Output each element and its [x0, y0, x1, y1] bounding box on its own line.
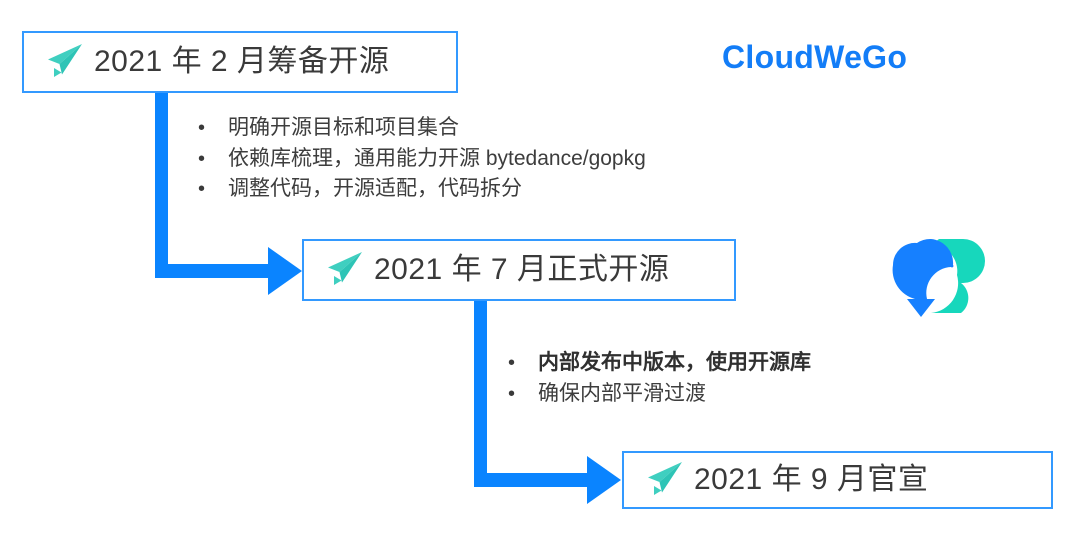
cloudwego-logo-icon	[881, 233, 997, 319]
bullet-dot-icon: •	[508, 384, 538, 404]
list-item-text: 依赖库梳理，通用能力开源 bytedance/gopkg	[228, 145, 646, 173]
list-item-text: 内部发布中版本，使用开源库	[538, 349, 811, 377]
milestone-label: 2021 年 9 月官宣	[694, 465, 944, 495]
connector-horizontal-segment	[155, 264, 279, 278]
arrowhead-right-icon	[587, 456, 621, 504]
list-item-text: 确保内部平滑过渡	[538, 380, 706, 408]
paper-plane-icon	[42, 41, 84, 84]
bullet-dot-icon: •	[198, 149, 228, 169]
list-item-text: 调整代码，开源适配，代码拆分	[228, 175, 522, 203]
details-2021-02: • 明确开源目标和项目集合 • 依赖库梳理，通用能力开源 bytedance/g…	[198, 114, 646, 206]
bullet-dot-icon: •	[198, 179, 228, 199]
paper-plane-icon	[322, 249, 364, 292]
bullet-dot-icon: •	[198, 118, 228, 138]
connector-horizontal-segment	[474, 473, 598, 487]
list-item: • 调整代码，开源适配，代码拆分	[198, 175, 646, 203]
connector-vertical-segment	[474, 299, 487, 487]
bullet-dot-icon: •	[508, 353, 538, 373]
list-item: • 明确开源目标和项目集合	[198, 114, 646, 142]
details-2021-07: • 内部发布中版本，使用开源库 • 确保内部平滑过渡	[508, 349, 811, 410]
paper-plane-icon	[642, 459, 684, 502]
milestone-label: 2021 年 7 月正式开源	[374, 255, 685, 285]
milestone-box-2021-02[interactable]: 2021 年 2 月筹备开源	[22, 31, 458, 93]
milestone-box-2021-09[interactable]: 2021 年 9 月官宣	[622, 451, 1053, 509]
connector-vertical-segment	[155, 91, 168, 278]
list-item-text: 明确开源目标和项目集合	[228, 114, 459, 142]
list-item: • 确保内部平滑过渡	[508, 380, 811, 408]
timeline-diagram: 2021 年 2 月筹备开源 • 明确开源目标和项目集合 • 依赖库梳理，通用能…	[0, 0, 1080, 546]
arrowhead-right-icon	[268, 247, 302, 295]
milestone-box-2021-07[interactable]: 2021 年 7 月正式开源	[302, 239, 736, 301]
list-item: • 依赖库梳理，通用能力开源 bytedance/gopkg	[198, 145, 646, 173]
brand-wordmark: CloudWeGo	[722, 39, 907, 76]
milestone-label: 2021 年 2 月筹备开源	[94, 47, 405, 77]
list-item: • 内部发布中版本，使用开源库	[508, 349, 811, 377]
